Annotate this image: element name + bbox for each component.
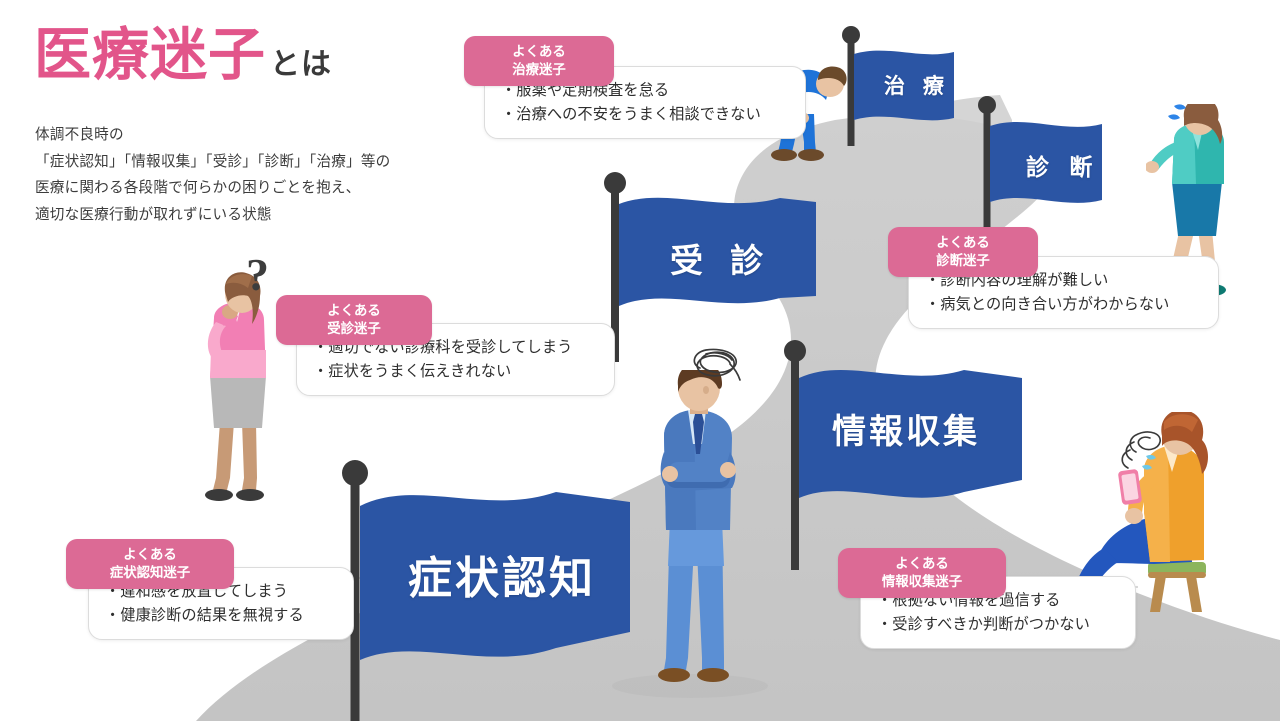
- person-businessman: [640, 370, 760, 690]
- title-suffix-text: とは: [270, 39, 332, 83]
- callout-line: ・健康診断の結果を無視する: [105, 604, 337, 628]
- question-mark-icon: ?: [242, 256, 282, 304]
- flag-diagnosis: 診 断: [978, 96, 1138, 231]
- flag-info: 情報収集: [784, 340, 1034, 570]
- flag-consult: 受 診: [604, 172, 834, 362]
- callout-line: ・症状をうまく伝えきれない: [313, 360, 598, 384]
- callout-line: ・病気との向き合い方がわからない: [925, 293, 1202, 317]
- page-title: 医療迷子とは: [34, 26, 332, 85]
- callout-diagnosis-head[interactable]: よくある 診断迷子: [888, 227, 1038, 277]
- tangle-scribble-icon: [686, 342, 746, 395]
- infographic-canvas: 医療迷子とは 体調不良時の 「症状認知」「情報収集」「受診」「診断」「治療」等の…: [0, 0, 1280, 721]
- flag-treatment: 治 療: [842, 26, 987, 146]
- callout-info-head[interactable]: よくある 情報収集迷子: [838, 548, 1006, 598]
- title-main-text: 医療迷子: [34, 26, 266, 85]
- svg-text:?: ?: [246, 256, 269, 300]
- callout-consult-head[interactable]: よくある 受診迷子: [276, 295, 432, 345]
- callout-line: ・治療への不安をうまく相談できない: [501, 103, 789, 127]
- callout-symptom-head[interactable]: よくある 症状認知迷子: [66, 539, 234, 589]
- callout-treatment-head[interactable]: よくある 治療迷子: [464, 36, 614, 86]
- callout-line: ・受診すべきか判断がつかない: [877, 613, 1119, 637]
- intro-paragraph: 体調不良時の 「症状認知」「情報収集」「受診」「診断」「治療」等の 医療に関わる…: [35, 122, 390, 228]
- flag-symptom: 症状認知: [342, 460, 642, 721]
